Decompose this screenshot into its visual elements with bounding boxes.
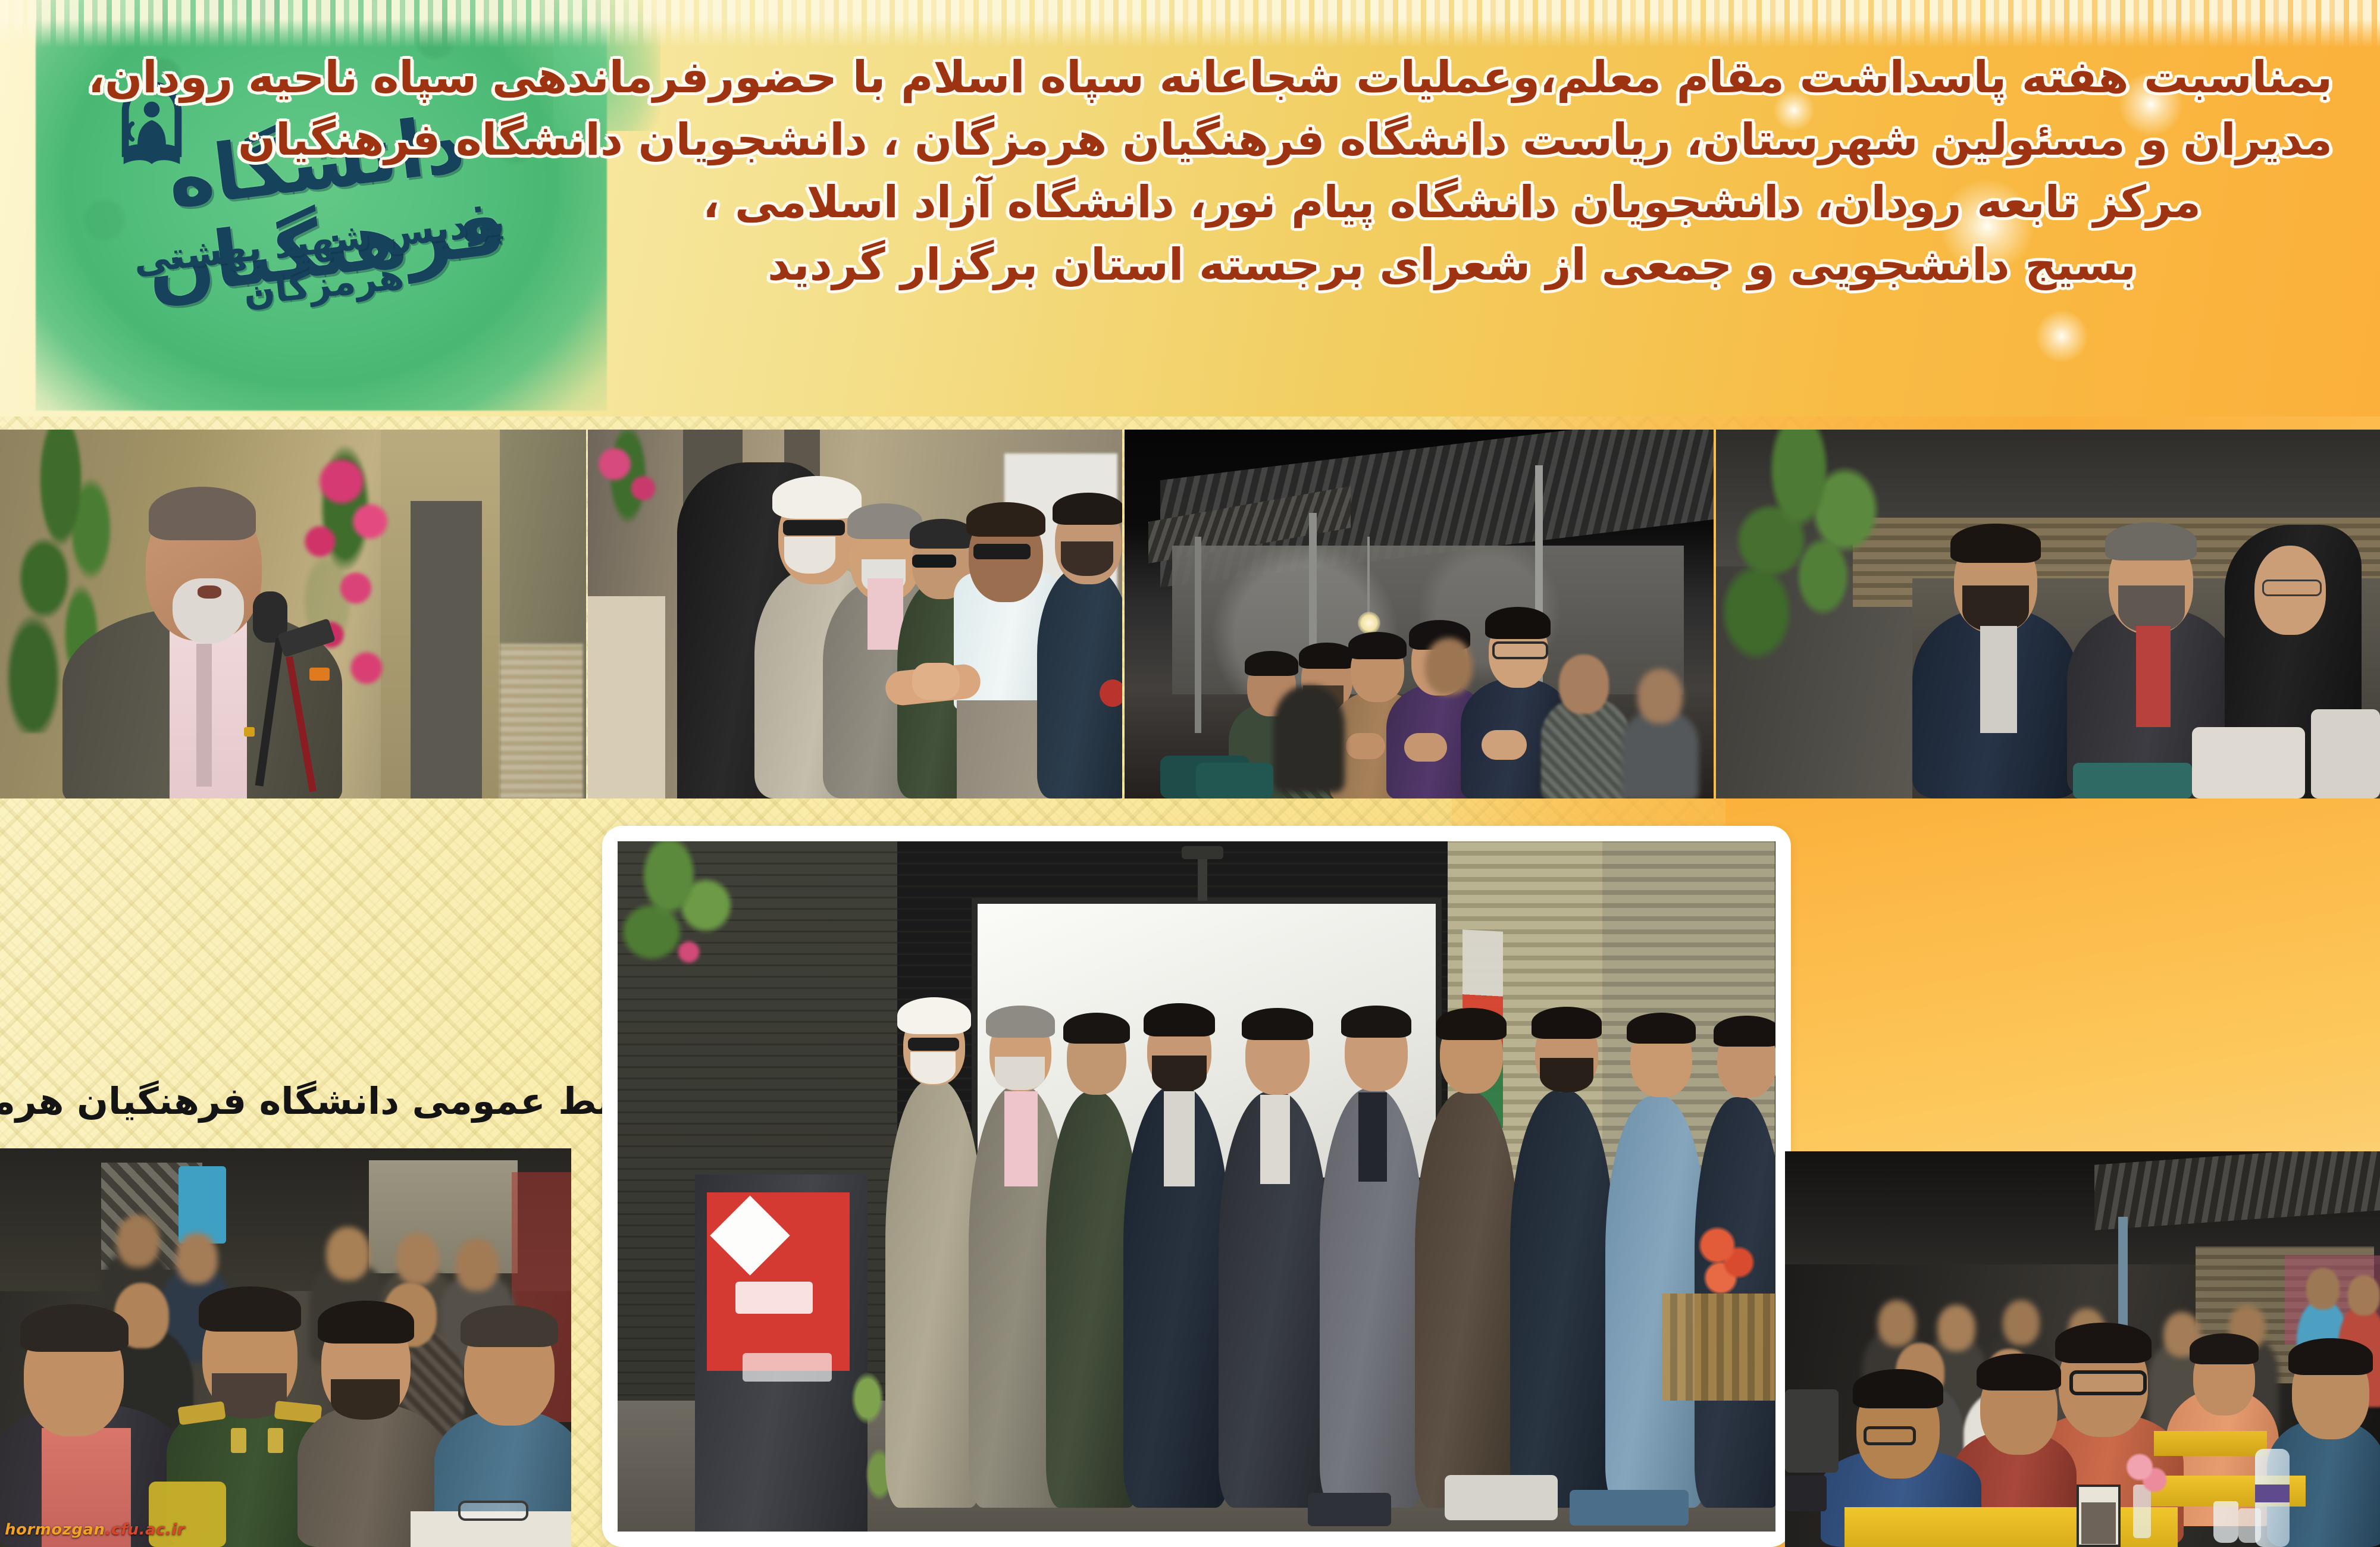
photo-students-line [1125, 430, 1714, 798]
site-watermark: hormozgan.cfu.ac.ir [5, 1521, 185, 1539]
headline-block: بمناسبت هفته پاسداشت مقام معلم،وعملیات ش… [571, 46, 2332, 296]
photo-audience-tables [1785, 1151, 2380, 1547]
event-poster: دانشگاه فرهنگیان پردیس شهید بهشتی هرمزگا… [0, 0, 2380, 1547]
public-relations-caption: روابط عمومی دانشگاه فرهنگیان هرمزگان [0, 1053, 571, 1148]
photo-audience-officer [0, 1148, 571, 1547]
photo-group-stage [618, 841, 1775, 1532]
header-banner: دانشگاه فرهنگیان پردیس شهید بهشتی هرمزگا… [0, 0, 2380, 416]
watermark-site-name: hormozgan [5, 1521, 105, 1539]
photo-handshake-award [588, 430, 1122, 798]
caption-text: روابط عمومی دانشگاه فرهنگیان هرمزگان [0, 1079, 668, 1123]
photo-group-stage-frame [602, 826, 1791, 1547]
photo-speaker-podium [0, 430, 586, 798]
watermark-site-domain: .cfu.ac.ir [105, 1521, 185, 1539]
headline-line-2: مدیران و مسئولین شهرستان، ریاست دانشگاه … [571, 109, 2332, 171]
sparkle-icon [2035, 309, 2088, 363]
background-orange-block [1725, 791, 2380, 1172]
banner-torn-edge [0, 0, 2380, 48]
headline-line-3: مرکز تابعه رودان، دانشجویان دانشگاه پیام… [571, 171, 2332, 234]
headline-line-1: بمناسبت هفته پاسداشت مقام معلم،وعملیات ش… [571, 46, 2332, 109]
headline-line-4: بسیج دانشجویی و جمعی از شعرای برجسته است… [571, 234, 2332, 296]
photo-seated-guests [1716, 430, 2380, 798]
